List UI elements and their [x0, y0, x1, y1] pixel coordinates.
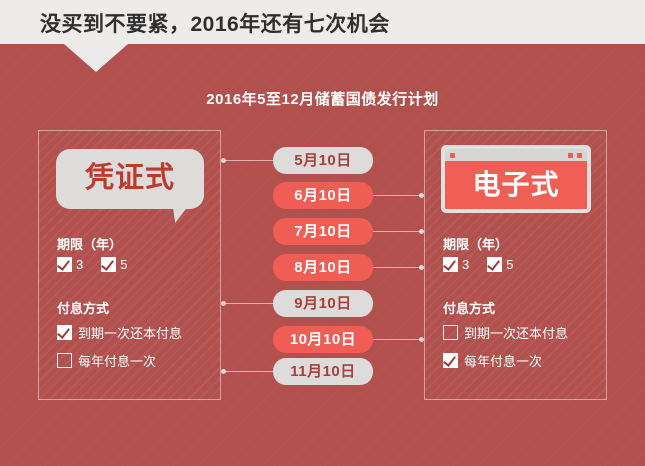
timeline-pill-june[interactable]: 6月10日 [273, 182, 373, 209]
connector-line-october [372, 339, 422, 340]
connector-line-september [224, 303, 276, 304]
electronic-term-3-label: 3 [462, 257, 469, 272]
certificate-term-5-label: 5 [120, 257, 127, 272]
electronic-payment-option-maturity-label: 到期一次还本付息 [464, 323, 568, 342]
certificate-badge: 凭证式 [56, 149, 204, 209]
speech-bubble-tail-icon [173, 205, 191, 223]
certificate-term-options: 3 5 [57, 257, 139, 272]
certificate-term-5[interactable]: 5 [101, 257, 127, 272]
checkbox-unchecked-icon[interactable] [57, 353, 72, 368]
timeline-pill-november[interactable]: 11月10日 [273, 358, 373, 385]
window-dot-right-2-icon [577, 153, 582, 158]
certificate-badge-label: 凭证式 [56, 149, 204, 209]
certificate-payment-option-annual-label: 每年付息一次 [78, 351, 156, 370]
certificate-payment-option-maturity[interactable]: 到期一次还本付息 [57, 323, 182, 342]
card-electronic: 电子式 期限（年） 3 5 付息方式 到期一次还本付息 每年付息一次 [424, 130, 607, 400]
connector-dot-may [221, 158, 226, 163]
connector-dot-october [419, 337, 424, 342]
timeline-pill-august[interactable]: 8月10日 [273, 254, 373, 281]
electronic-payment-option-annual-label: 每年付息一次 [464, 351, 542, 370]
checkbox-checked-icon[interactable] [57, 325, 72, 340]
checkbox-checked-icon[interactable] [487, 257, 502, 272]
electronic-term-5[interactable]: 5 [487, 257, 513, 272]
connector-line-june [372, 195, 422, 196]
timeline-pill-july[interactable]: 7月10日 [273, 218, 373, 245]
connector-line-november [224, 371, 276, 372]
checkbox-checked-icon[interactable] [101, 257, 116, 272]
electronic-badge: 电子式 [441, 145, 591, 213]
checkbox-checked-icon[interactable] [443, 257, 458, 272]
checkbox-checked-icon[interactable] [443, 353, 458, 368]
checkbox-checked-icon[interactable] [57, 257, 72, 272]
connector-line-july [372, 231, 422, 232]
electronic-payment-heading: 付息方式 [443, 298, 495, 317]
electronic-payment-option-annual[interactable]: 每年付息一次 [443, 351, 542, 370]
header-bar: 没买到不要紧，2016年还有七次机会 [0, 0, 645, 44]
page-title: 没买到不要紧，2016年还有七次机会 [40, 8, 390, 38]
electronic-payment-option-maturity[interactable]: 到期一次还本付息 [443, 323, 568, 342]
timeline-pill-october[interactable]: 10月10日 [273, 326, 373, 353]
connector-line-may [224, 160, 276, 161]
certificate-term-3[interactable]: 3 [57, 257, 83, 272]
certificate-payment-option-maturity-label: 到期一次还本付息 [78, 323, 182, 342]
timeline-pill-september[interactable]: 9月10日 [273, 290, 373, 317]
electronic-term-options: 3 5 [443, 257, 525, 272]
certificate-payment-option-annual[interactable]: 每年付息一次 [57, 351, 156, 370]
checkbox-unchecked-icon[interactable] [443, 325, 458, 340]
electronic-term-3[interactable]: 3 [443, 257, 469, 272]
header-notch-triangle [64, 44, 128, 72]
connector-dot-august [419, 265, 424, 270]
connector-line-august [372, 267, 422, 268]
electronic-term-5-label: 5 [506, 257, 513, 272]
connector-dot-july [419, 229, 424, 234]
window-dot-left-icon [450, 153, 455, 158]
connector-dot-june [419, 193, 424, 198]
infographic-root: 没买到不要紧，2016年还有七次机会 2016年5至12月储蓄国债发行计划 凭证… [0, 0, 645, 466]
browser-window-titlebar-icon [445, 149, 587, 161]
card-certificate: 凭证式 期限（年） 3 5 付息方式 到期一次还本付息 每年付息一次 [38, 130, 221, 400]
timeline-pill-may[interactable]: 5月10日 [273, 147, 373, 174]
certificate-term-3-label: 3 [76, 257, 83, 272]
connector-dot-november [221, 369, 226, 374]
electronic-term-heading: 期限（年） [443, 234, 508, 253]
electronic-badge-label: 电子式 [445, 161, 587, 209]
window-dot-right-1-icon [568, 153, 573, 158]
certificate-payment-heading: 付息方式 [57, 298, 109, 317]
certificate-term-heading: 期限（年） [57, 234, 122, 253]
connector-dot-september [221, 301, 226, 306]
chart-subtitle: 2016年5至12月储蓄国债发行计划 [0, 88, 645, 109]
